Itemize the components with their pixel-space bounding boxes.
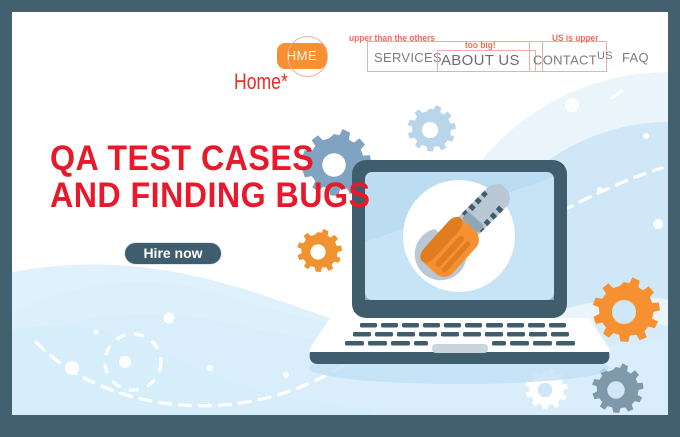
nav-item-about-us[interactable]: ABOUT US xyxy=(441,52,520,69)
hero-heading-line-1: QA TEST CASES xyxy=(50,140,326,177)
design-frame: HME Home* upper than the others SERVICES… xyxy=(0,0,680,437)
hire-now-button[interactable]: Hire now xyxy=(124,242,222,265)
site-navigation: HME Home* upper than the others SERVICES… xyxy=(12,12,668,104)
gear-orange-right xyxy=(593,277,660,342)
laptop-trackpad xyxy=(432,344,488,353)
nav-item-faq[interactable]: FAQ xyxy=(622,50,649,65)
circle-annotation-icon xyxy=(287,36,328,77)
nav-contact-text: CONTACT xyxy=(533,52,597,67)
gear-lightblue-top xyxy=(408,105,456,151)
annotation-upper-than-others: upper than the others xyxy=(349,33,435,44)
nav-item-contact-us[interactable]: CONTACTUS xyxy=(533,50,613,67)
gear-orange-left xyxy=(297,229,342,272)
nav-contact-superscript: US xyxy=(597,50,613,62)
landing-page-canvas: HME Home* upper than the others SERVICES… xyxy=(12,12,668,415)
annotation-home-label: Home* xyxy=(234,69,288,95)
annotation-us-is-upper: US is upper xyxy=(552,33,598,44)
hero-heading-line-2: AND FINDING BUGS xyxy=(50,177,326,214)
annotation-too-big: too big! xyxy=(465,40,496,51)
nav-item-services[interactable]: SERVICES xyxy=(374,50,442,65)
hero-heading: QA TEST CASES AND FINDING BUGS xyxy=(50,140,350,214)
